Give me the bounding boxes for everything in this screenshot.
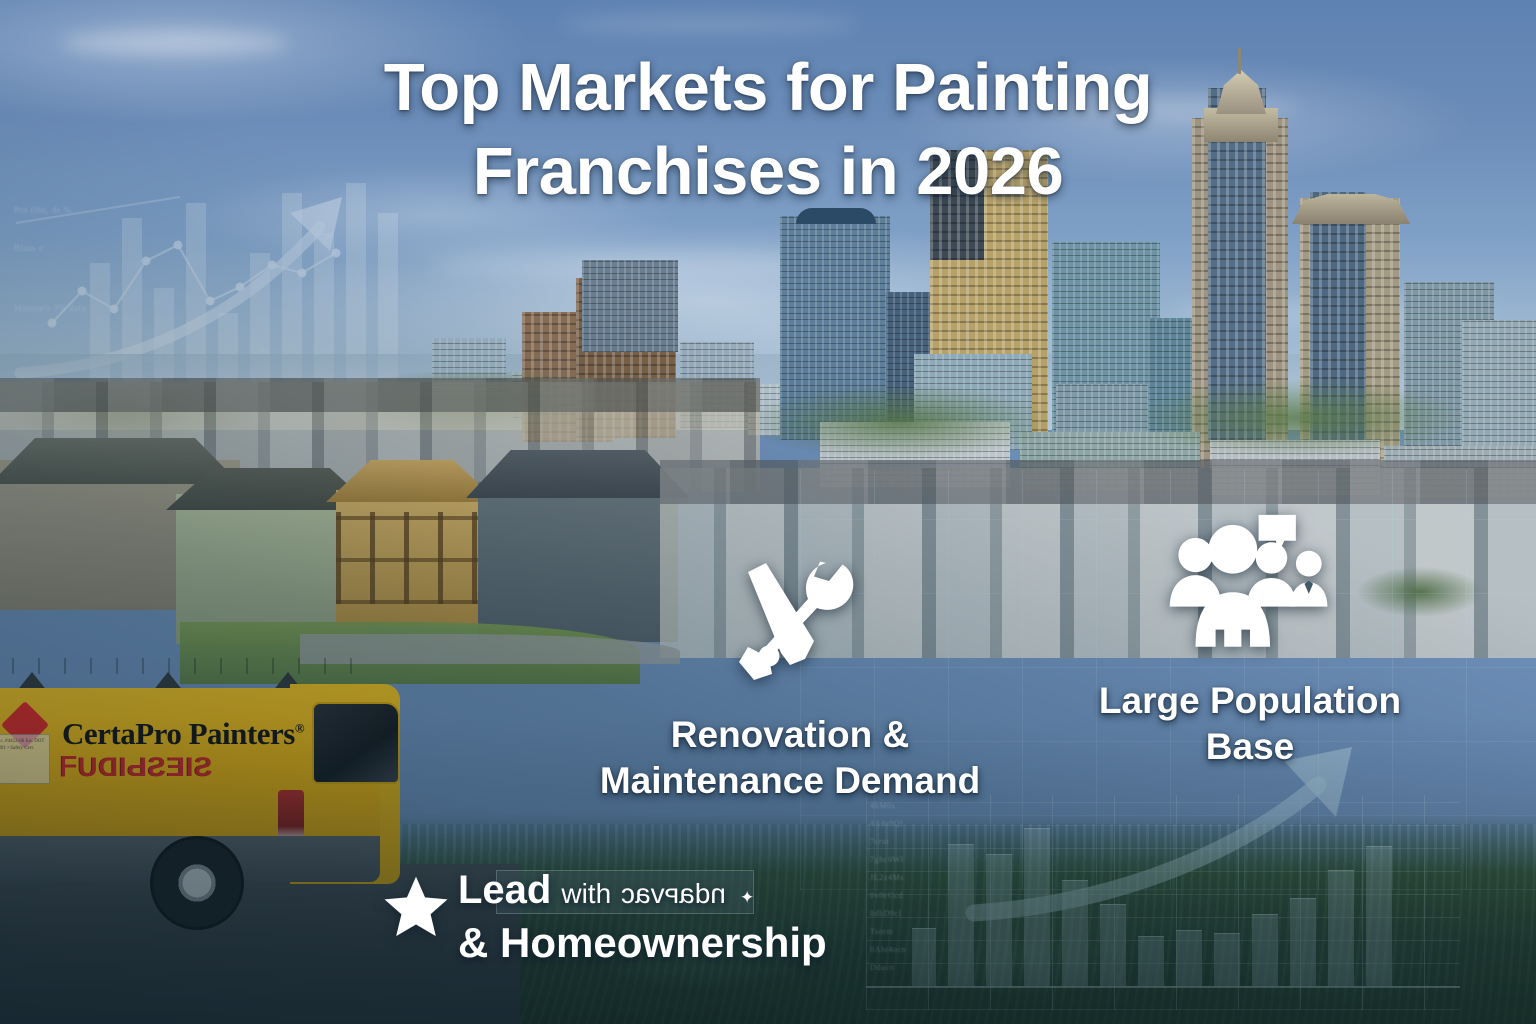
sparkle-icon: ✦ [740,888,754,908]
van-rear-window [312,702,400,784]
ladder-icon [0,658,360,674]
feature-population: Large Population Base [1040,512,1460,770]
registered-mark: ® [295,721,304,736]
callout-line-2: & Homeownership [380,916,900,970]
feature-renovation: Renovation & Maintenance Demand [560,548,1020,804]
page-title: Top Markets for Painting Franchises in 2… [0,46,1536,214]
van-subtext-mirrored: ЅІЕЅЬІDUᖷ [60,752,212,784]
group-of-people-icon [1164,512,1336,664]
feature-label-line2: Base [1040,724,1460,770]
hero-image: Pro (lhs, ds % Blass e Mmnue's 3% data d… [0,0,1536,1024]
callout-lead: Lead [458,866,551,914]
van-brand-text: CertaPro Painters® [62,716,304,752]
house-roof-row [660,460,1536,504]
van-wheel [150,836,244,930]
callout-with: with [561,870,611,918]
feature-label-line2: Maintenance Demand [560,758,1020,804]
van-placard: Lic. #4412-08 Ins. DOT 2281 • Safety Cer… [0,734,50,784]
title-line-2: Franchises in 2026 [0,130,1536,214]
bottom-callout: Lead with ndaᴘvac ✦ & Homeownership [380,866,900,970]
van-brand-label: CertaPro Painters [62,716,295,751]
title-line-1: Top Markets for Painting [0,46,1536,130]
feature-label-line1: Large Population [1040,678,1460,724]
wrench-screwdriver-icon [715,548,865,698]
callout-garbled-text: ndaᴘvac [621,870,726,918]
house-framing [336,512,488,604]
feature-label-line1: Renovation & [560,712,1020,758]
building [582,260,678,352]
